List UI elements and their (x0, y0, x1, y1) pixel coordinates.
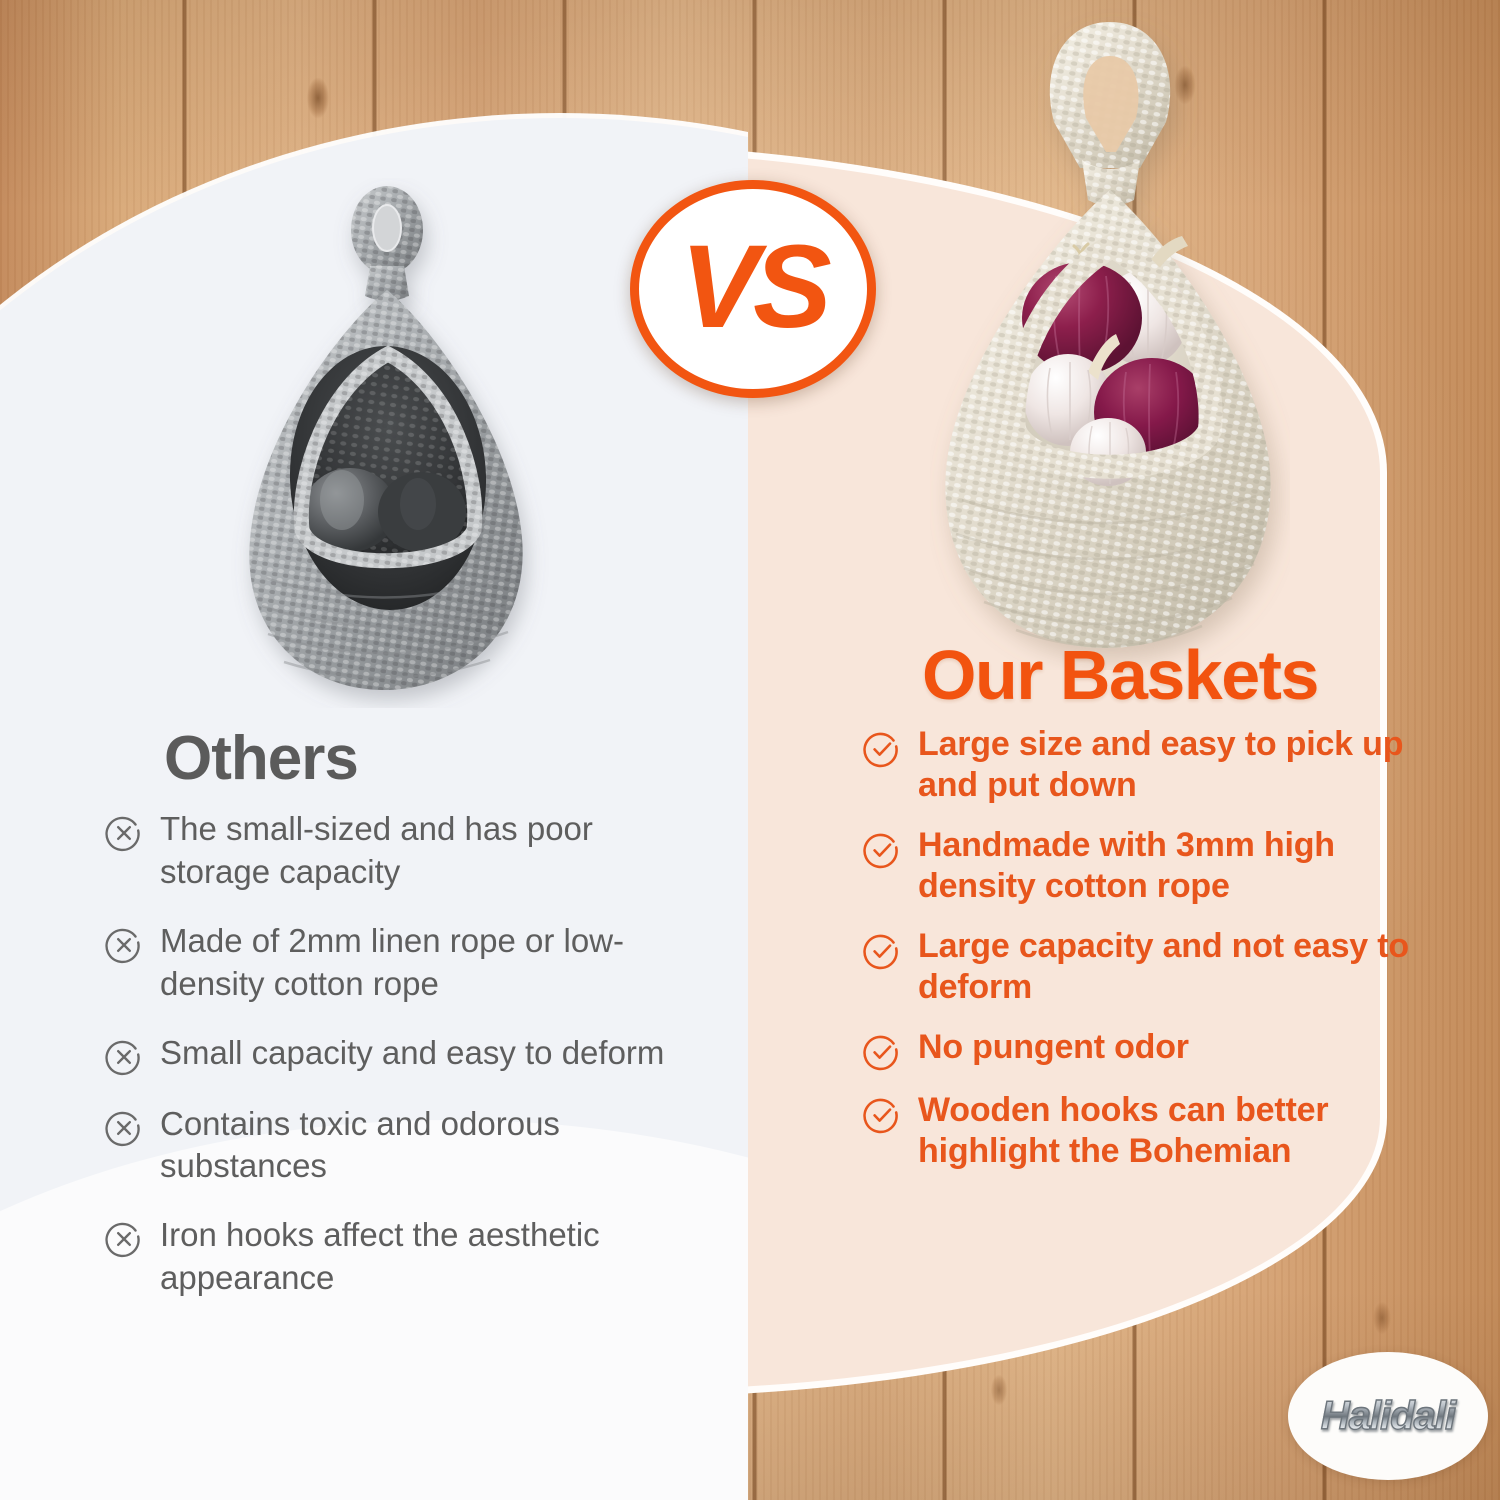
gray-crochet-hanging-basket (222, 178, 552, 708)
list-item-label: Large capacity and not easy to deform (918, 926, 1438, 1009)
versus-label: VS (680, 228, 825, 346)
comparison-infographic: VS Others The small-sized and has poor s… (0, 0, 1500, 1500)
list-item-label: The small-sized and has poor storage cap… (160, 808, 680, 894)
circle-check-icon (862, 729, 902, 769)
versus-badge: VS (630, 180, 876, 398)
list-item-label: Handmade with 3mm high density cotton ro… (918, 825, 1438, 908)
our-baskets-column: Our Baskets Large size and easy to pick … (862, 640, 1462, 1191)
circle-x-icon (104, 1108, 144, 1148)
list-item: Iron hooks affect the aesthetic appearan… (104, 1214, 724, 1300)
circle-x-icon (104, 1219, 144, 1259)
brand-logo: Halidali (1288, 1352, 1488, 1480)
list-item-label: Small capacity and easy to deform (160, 1032, 664, 1075)
our-baskets-feature-list: Large size and easy to pick up and put d… (862, 724, 1462, 1173)
circle-x-icon (104, 1037, 144, 1077)
list-item: No pungent odor (862, 1027, 1462, 1072)
others-feature-list: The small-sized and has poor storage cap… (104, 808, 724, 1300)
list-item: Contains toxic and odorous substances (104, 1103, 724, 1189)
others-heading: Others (164, 728, 724, 790)
list-item: Large size and easy to pick up and put d… (862, 724, 1462, 807)
others-column: Others The small-sized and has poor stor… (104, 728, 724, 1326)
list-item: Wooden hooks can better highlight the Bo… (862, 1090, 1462, 1173)
circle-x-icon (104, 925, 144, 965)
list-item: Large capacity and not easy to deform (862, 926, 1462, 1009)
list-item: The small-sized and has poor storage cap… (104, 808, 724, 894)
cream-crochet-hanging-basket (930, 0, 1290, 670)
circle-x-icon (104, 813, 144, 853)
circle-check-icon (862, 931, 902, 971)
list-item-label: Contains toxic and odorous substances (160, 1103, 680, 1189)
list-item-label: Iron hooks affect the aesthetic appearan… (160, 1214, 680, 1300)
list-item-label: Wooden hooks can better highlight the Bo… (918, 1090, 1438, 1173)
circle-check-icon (862, 1032, 902, 1072)
list-item: Handmade with 3mm high density cotton ro… (862, 825, 1462, 908)
brand-logo-text: Halidali (1321, 1394, 1455, 1439)
circle-check-icon (862, 1095, 902, 1135)
list-item-label: Large size and easy to pick up and put d… (918, 724, 1438, 807)
circle-check-icon (862, 830, 902, 870)
list-item: Made of 2mm linen rope or low-density co… (104, 920, 724, 1006)
list-item-label: Made of 2mm linen rope or low-density co… (160, 920, 680, 1006)
list-item: Small capacity and easy to deform (104, 1032, 724, 1077)
our-baskets-heading: Our Baskets (922, 640, 1462, 710)
list-item-label: No pungent odor (918, 1027, 1189, 1068)
